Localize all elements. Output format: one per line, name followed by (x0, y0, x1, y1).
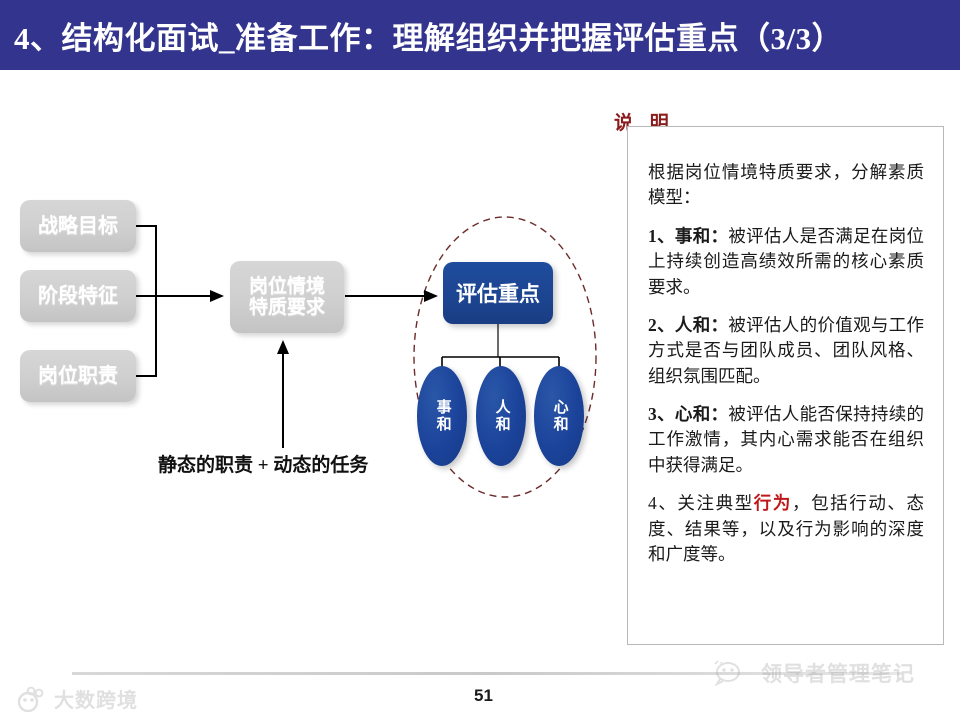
diagram-caption: 静态的职责 + 动态的任务 (158, 450, 368, 477)
diagram-box-strategy-label: 战略目标 (38, 215, 118, 237)
diagram-box-duty[interactable]: 岗位职责 (20, 350, 136, 402)
input-bracket (136, 226, 156, 376)
explanation-body: 根据岗位情境特质要求，分解素质模型： 1、事和：被评估人是否满足在岗位上持续创造… (648, 160, 924, 580)
diagram-box-focus-label: 评估重点 (456, 278, 540, 308)
diagram-box-context-line1: 岗位情境 (249, 276, 325, 297)
slide-canvas: 4、结构化面试_准备工作：理解组织并把握评估重点（3/3） 战略目标 阶段特征 … (0, 0, 960, 720)
diagram-ellipse-shihe-label: 事和 (433, 399, 450, 433)
diagram-ellipse-xinhe[interactable]: 心和 (534, 366, 584, 466)
diagram-box-stage-label: 阶段特征 (38, 285, 118, 307)
explanation-item-1: 1、事和：被评估人是否满足在岗位上持续创造高绩效所需的核心素质要求。 (648, 224, 924, 300)
explanation-item-4-prefix: 4、关注典型 (648, 493, 754, 513)
explanation-item-4-highlight: 行为 (754, 493, 792, 513)
diagram-box-focus[interactable]: 评估重点 (443, 262, 553, 324)
explanation-item-2-colon: ： (711, 315, 729, 335)
explanation-item-3-number: 3、 (648, 404, 675, 424)
watermark-left: 大数跨境 (8, 684, 138, 713)
watermark-left-text: 大数跨境 (54, 684, 138, 713)
explanation-item-2-term: 人和 (675, 315, 711, 335)
diagram-box-duty-label: 岗位职责 (38, 365, 118, 387)
diagram-box-stage[interactable]: 阶段特征 (20, 270, 136, 322)
page-title: 4、结构化面试_准备工作：理解组织并把握评估重点（3/3） (14, 13, 843, 58)
explanation-item-2-number: 2、 (648, 315, 675, 335)
wechat-logo-icon (712, 660, 754, 686)
explanation-item-4: 4、关注典型行为，包括行动、态度、结果等，以及行为影响的深度和广度等。 (648, 491, 924, 567)
explanation-item-1-colon: ： (711, 226, 729, 246)
explanation-item-3-colon: ： (711, 404, 729, 424)
explanation-item-3-term: 心和 (675, 404, 711, 424)
watermark-right-text: 领导者管理笔记 (761, 658, 915, 688)
explanation-intro: 根据岗位情境特质要求，分解素质模型： (648, 160, 924, 211)
page-number: 51 (474, 686, 493, 706)
diagram-box-context[interactable]: 岗位情境 特质要求 (230, 261, 344, 333)
watermark-right: 领导者管理笔记 (712, 658, 915, 688)
title-bar: 4、结构化面试_准备工作：理解组织并把握评估重点（3/3） (0, 0, 960, 70)
explanation-item-1-number: 1、 (648, 226, 675, 246)
explanation-item-3: 3、心和：被评估人能否保持持续的工作激情，其内心需求能否在组织中获得满足。 (648, 402, 924, 478)
diagram-ellipse-shihe[interactable]: 事和 (417, 366, 467, 466)
diagram-ellipse-renhe-label: 人和 (492, 399, 509, 433)
paw-logo-icon (8, 686, 48, 712)
explanation-item-1-term: 事和 (675, 226, 711, 246)
diagram-box-context-line2: 特质要求 (249, 297, 325, 318)
diagram-box-strategy[interactable]: 战略目标 (20, 200, 136, 252)
explanation-item-2: 2、人和：被评估人的价值观与工作方式是否与团队成员、团队风格、组织氛围匹配。 (648, 313, 924, 389)
diagram-ellipse-renhe[interactable]: 人和 (476, 366, 526, 466)
diagram-ellipse-xinhe-label: 心和 (550, 399, 567, 433)
